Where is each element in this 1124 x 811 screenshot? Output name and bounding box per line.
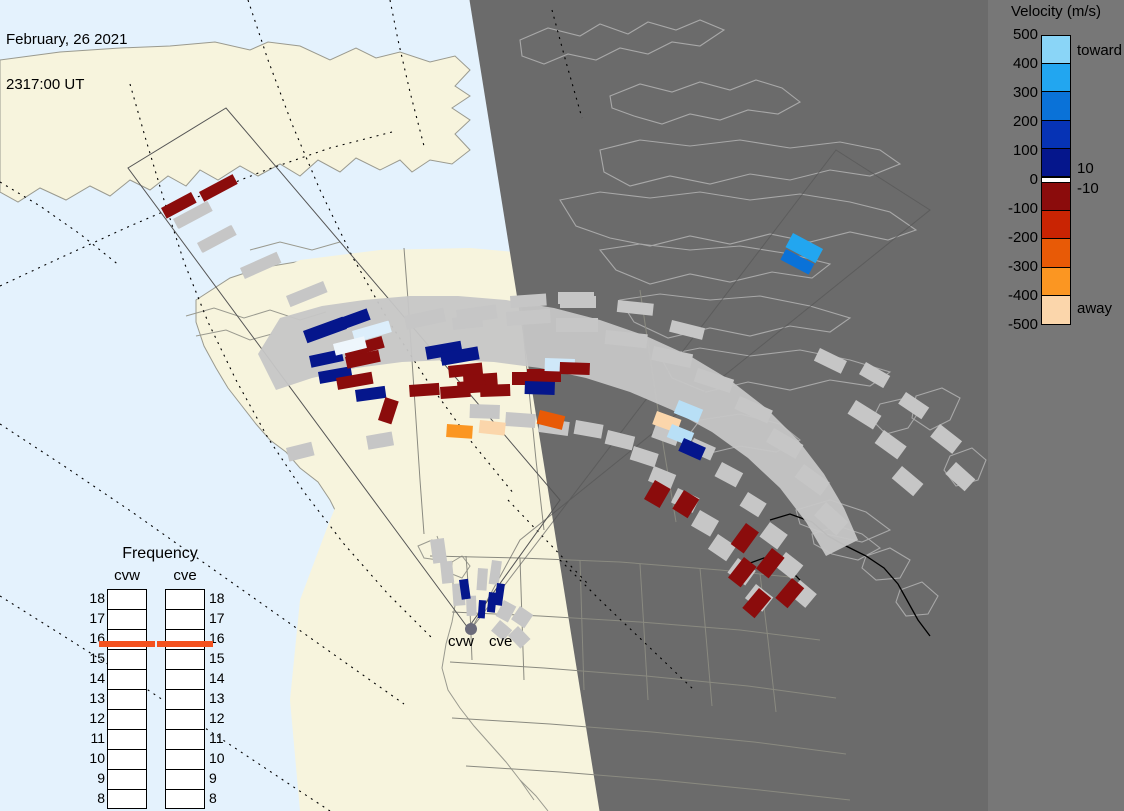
timestamp-block: February, 26 2021 2317:00 UT: [6, 2, 127, 122]
colorbar-positive-threshold-label: 10: [1077, 160, 1094, 177]
frequency-tick-8: 8: [83, 790, 105, 806]
frequency-cell: [108, 790, 146, 810]
velocity-cell: [560, 362, 590, 375]
frequency-tick-14: 14: [83, 670, 105, 686]
colorbar-band--250: [1042, 239, 1070, 267]
frequency-cell: [108, 670, 146, 690]
frequency-tick-15: 15: [209, 650, 231, 666]
colorbar-toward-label: toward: [1077, 42, 1122, 59]
frequency-cell: [166, 630, 204, 650]
frequency-cell: [108, 590, 146, 610]
frequency-cell: [166, 730, 204, 750]
frequency-tick-17: 17: [83, 610, 105, 626]
velocity-cell: [525, 381, 555, 395]
colorbar-tick--500: -500: [1008, 316, 1038, 333]
colorbar-tick-300: 300: [1013, 84, 1038, 101]
site-label-cvw: cvw: [448, 633, 474, 650]
colorbar-band-450: [1042, 36, 1070, 64]
frequency-tick-8: 8: [209, 790, 231, 806]
colorbar-band--150: [1042, 211, 1070, 239]
frequency-tick-15: 15: [83, 650, 105, 666]
frequency-tick-11: 11: [209, 730, 231, 746]
colorbar-title: Velocity (m/s): [988, 3, 1124, 20]
frequency-cell: [166, 710, 204, 730]
frequency-tick-13: 13: [209, 690, 231, 706]
colorbar-tick-500: 500: [1013, 26, 1038, 43]
velocity-cell: [478, 600, 486, 618]
colorbar-tick--100: -100: [1008, 200, 1038, 217]
velocity-cell: [409, 383, 440, 397]
colorbar-tick--300: -300: [1008, 258, 1038, 275]
velocity-cell: [479, 420, 506, 436]
frequency-cell: [166, 650, 204, 670]
frequency-tick-18: 18: [83, 590, 105, 606]
frequency-cell: [108, 710, 146, 730]
frequency-tick-17: 17: [209, 610, 231, 626]
frequency-cell: [166, 770, 204, 790]
superdarn-velocity-map: cvw cve February, 26 2021 2317:00 UT Fre…: [0, 0, 1124, 811]
frequency-cell: [108, 750, 146, 770]
date-text: February, 26 2021: [6, 32, 127, 47]
frequency-marker-cvw: [99, 641, 155, 647]
frequency-tick-13: 13: [83, 690, 105, 706]
colorbar-band-250: [1042, 92, 1070, 120]
colorbar-strip[interactable]: [1041, 35, 1071, 325]
frequency-cell: [166, 590, 204, 610]
frequency-cell: [166, 790, 204, 810]
frequency-tick-18: 18: [209, 590, 231, 606]
frequency-bar-cve[interactable]: [165, 589, 205, 809]
frequency-tick-11: 11: [83, 730, 105, 746]
colorbar-negative-threshold-label: -10: [1077, 180, 1099, 197]
frequency-bar-cvw[interactable]: [107, 589, 147, 809]
frequency-cell: [166, 610, 204, 630]
colorbar-tick--400: -400: [1008, 287, 1038, 304]
colorbar-band--350: [1042, 268, 1070, 296]
frequency-tick-9: 9: [209, 770, 231, 786]
frequency-tick-14: 14: [209, 670, 231, 686]
colorbar-tick-100: 100: [1013, 142, 1038, 159]
frequency-cell: [108, 730, 146, 750]
frequency-cell: [108, 610, 146, 630]
colorbar-panel: Velocity (m/s) 5004003002001000-100-200-…: [988, 0, 1124, 811]
colorbar-tick-200: 200: [1013, 113, 1038, 130]
frequency-cell: [108, 770, 146, 790]
colorbar-band--450: [1042, 296, 1070, 324]
frequency-cell: [108, 650, 146, 670]
colorbar-tick-0: 0: [1030, 171, 1038, 188]
frequency-legend: Frequency cvw cve 18171615141312111098 1…: [85, 545, 255, 790]
colorbar-band-150: [1042, 121, 1070, 149]
frequency-tick-12: 12: [209, 710, 231, 726]
colorbar-band-50: [1042, 149, 1070, 177]
colorbar-band-350: [1042, 64, 1070, 92]
frequency-column-label-cvw: cvw: [105, 567, 149, 584]
frequency-tick-12: 12: [83, 710, 105, 726]
velocity-cell: [480, 384, 510, 397]
frequency-column-label-cve: cve: [163, 567, 207, 584]
velocity-cell: [446, 424, 473, 439]
frequency-tick-9: 9: [83, 770, 105, 786]
frequency-cell: [108, 690, 146, 710]
colorbar-tick-400: 400: [1013, 55, 1038, 72]
frequency-tick-10: 10: [83, 750, 105, 766]
frequency-cell: [108, 630, 146, 650]
colorbar-band--50: [1042, 183, 1070, 211]
frequency-cell: [166, 670, 204, 690]
frequency-cell: [166, 750, 204, 770]
time-text: 2317:00 UT: [6, 77, 127, 92]
frequency-title: Frequency: [85, 545, 235, 563]
site-label-cve: cve: [489, 633, 512, 650]
colorbar-tick--200: -200: [1008, 229, 1038, 246]
frequency-tick-10: 10: [209, 750, 231, 766]
frequency-cell: [166, 690, 204, 710]
frequency-marker-cve: [157, 641, 213, 647]
colorbar-away-label: away: [1077, 300, 1112, 317]
